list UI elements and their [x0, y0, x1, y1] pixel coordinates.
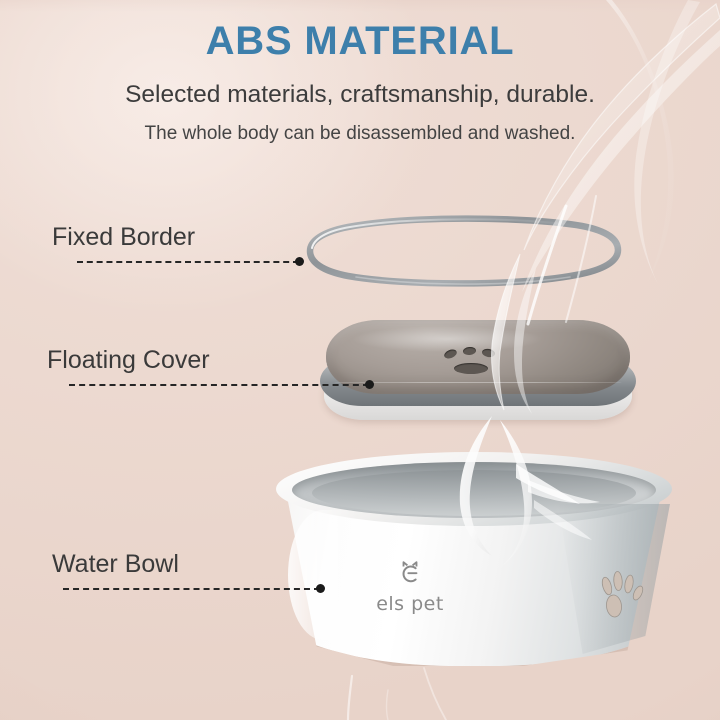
callout-label: Floating Cover [47, 348, 210, 373]
callout-endpoint-dot [295, 257, 304, 266]
subtitle-primary: Selected materials, craftsmanship, durab… [0, 82, 720, 109]
callout-endpoint-dot [365, 380, 374, 389]
infographic-canvas: els pet [0, 0, 720, 720]
page-title: ABS MATERIAL [0, 21, 720, 61]
callout-endpoint-dot [316, 584, 325, 593]
subtitle-secondary: The whole body can be disassembled and w… [0, 124, 720, 145]
callout-leader-line [63, 588, 320, 590]
background-top-stripe [0, 0, 720, 12]
callout-label: Fixed Border [52, 225, 195, 250]
callout-leader-line [77, 261, 299, 263]
callout-label: Water Bowl [52, 552, 179, 577]
callout-leader-line [69, 384, 369, 386]
